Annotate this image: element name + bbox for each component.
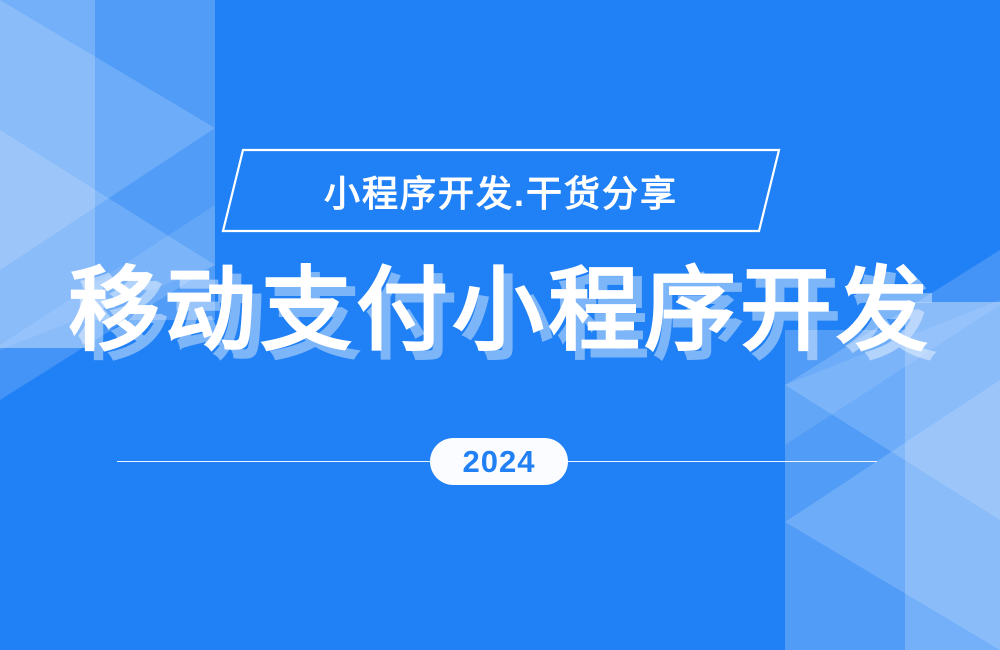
subtitle-frame: 小程序开发.干货分享 bbox=[222, 149, 780, 232]
subtitle-text: 小程序开发.干货分享 bbox=[222, 149, 780, 232]
poster-canvas: 小程序开发.干货分享 移动支付小程序开发 2024 bbox=[0, 0, 1000, 650]
year-badge: 2024 bbox=[430, 438, 568, 485]
page-title: 移动支付小程序开发 bbox=[68, 265, 932, 357]
year-row: 2024 bbox=[0, 438, 1000, 486]
year-badge-label: 2024 bbox=[463, 444, 536, 480]
divider-line-right bbox=[566, 461, 877, 462]
divider-line-left bbox=[117, 461, 432, 462]
right-chevron-top-shape bbox=[785, 380, 1000, 650]
main-title-container: 移动支付小程序开发 bbox=[0, 256, 1000, 366]
right-band-inner-shape bbox=[785, 330, 905, 650]
left-chevron-top-shape bbox=[0, 0, 215, 270]
